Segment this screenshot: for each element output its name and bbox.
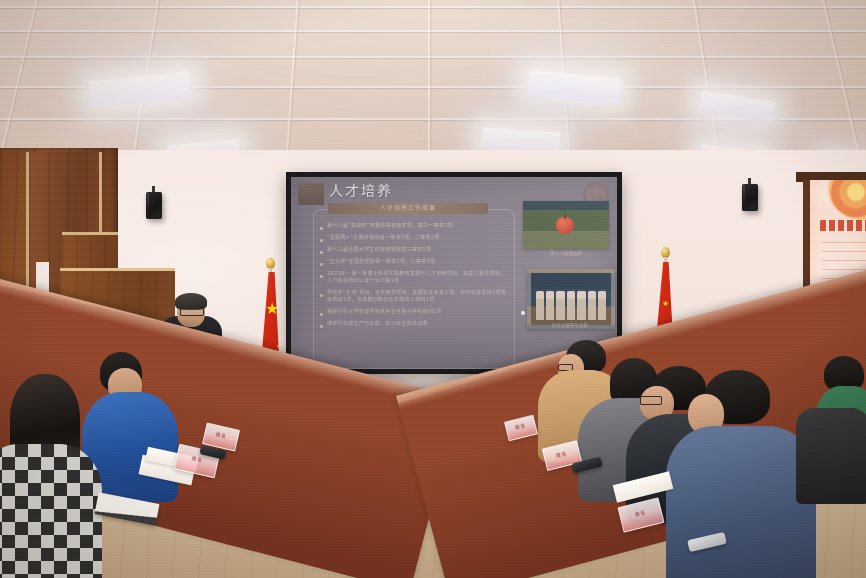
attendee-glasses-icon [640, 396, 662, 405]
wall-speaker-left [146, 192, 162, 219]
banner-title-text [820, 220, 866, 231]
attendee-body [666, 426, 816, 578]
wall-speaker-right [742, 184, 758, 211]
conference-room-screenshot: 人才培养 人才培养工作成果 第十八届“挑战杯”竞赛获得省级奖项，其中一等奖2项“… [0, 0, 866, 578]
chair-backrest[interactable] [796, 408, 866, 504]
presenter-glasses-icon [180, 308, 204, 316]
sunburst-graphic-icon [828, 180, 866, 220]
presentation-slide: 人才培养 人才培养工作成果 第十八届“挑战杯”竞赛获得省级奖项，其中一等奖2项“… [291, 177, 617, 369]
flag-star-large-icon: ★ [662, 300, 669, 308]
attendee-body [0, 444, 102, 578]
